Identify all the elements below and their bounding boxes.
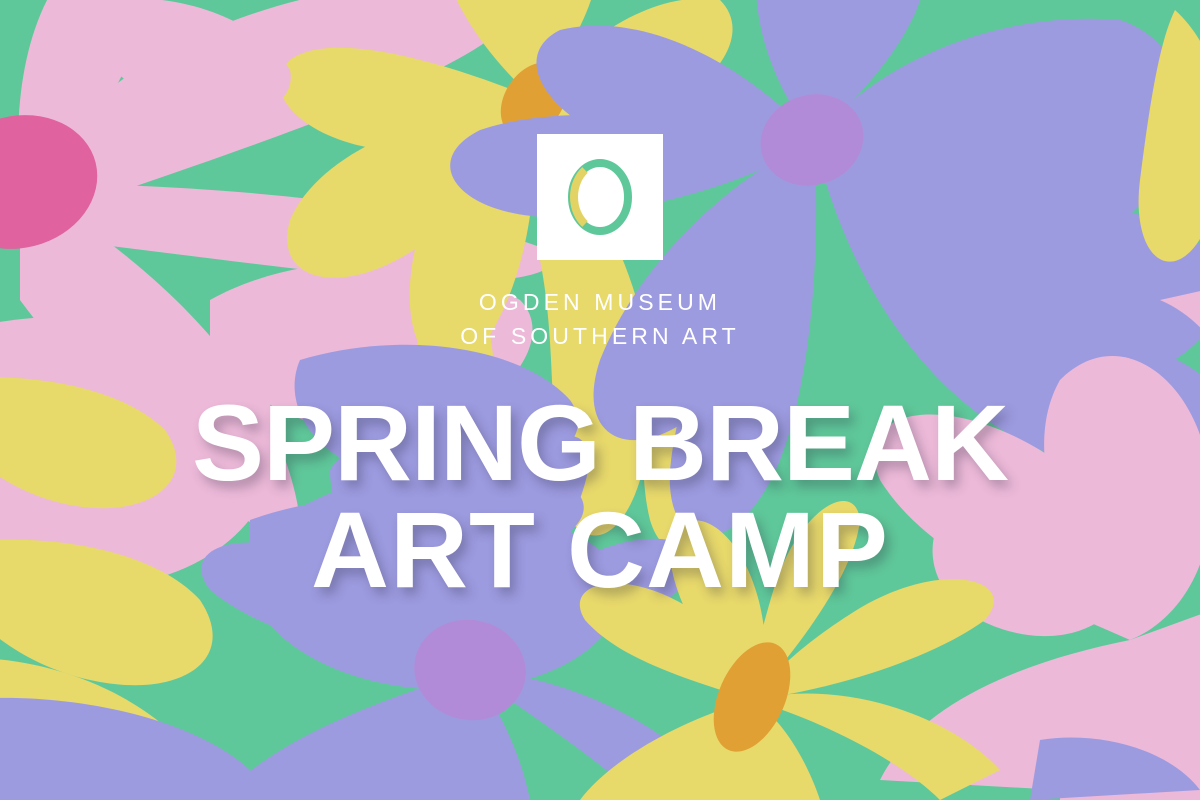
ogden-o-ring-icon: [563, 154, 637, 240]
ogden-logo-mark: [537, 134, 663, 260]
wordmark-line-2: OF SOUTHERN ART: [460, 320, 740, 354]
brand-lockup: OGDEN MUSEUM OF SOUTHERN ART: [460, 134, 740, 354]
headline-line-2: ART CAMP: [192, 497, 1008, 604]
ogden-wordmark: OGDEN MUSEUM OF SOUTHERN ART: [460, 286, 740, 354]
poster-canvas: OGDEN MUSEUM OF SOUTHERN ART SPRING BREA…: [0, 0, 1200, 800]
headline: SPRING BREAK ART CAMP: [192, 390, 1008, 604]
wordmark-line-1: OGDEN MUSEUM: [460, 286, 740, 320]
headline-line-1: SPRING BREAK: [192, 390, 1008, 497]
